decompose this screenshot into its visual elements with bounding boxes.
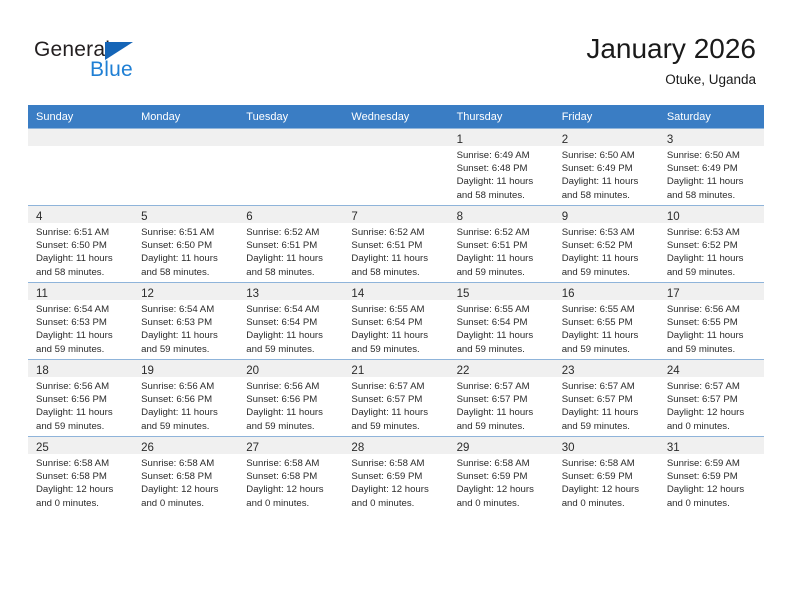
calendar-day-cell[interactable]: 29Sunrise: 6:58 AMSunset: 6:59 PMDayligh… — [449, 437, 554, 514]
weekday-header-friday: Friday — [554, 105, 659, 129]
day-detail-lines: Sunrise: 6:55 AMSunset: 6:55 PMDaylight:… — [554, 300, 659, 356]
day-detail-lines: Sunrise: 6:55 AMSunset: 6:54 PMDaylight:… — [449, 300, 554, 356]
day-number-band: 20 — [238, 360, 343, 377]
calendar-day-cell[interactable]: 24Sunrise: 6:57 AMSunset: 6:57 PMDayligh… — [659, 360, 764, 437]
sunrise-text: Sunrise: 6:51 AM — [36, 226, 127, 239]
sunrise-text: Sunrise: 6:58 AM — [141, 457, 232, 470]
page-title: January 2026 — [586, 32, 756, 66]
daylight-text-line2: and 59 minutes. — [351, 343, 442, 356]
day-number: 14 — [351, 288, 364, 300]
calendar-day-cell[interactable]: 12Sunrise: 6:54 AMSunset: 6:53 PMDayligh… — [133, 283, 238, 360]
daylight-text-line1: Daylight: 11 hours — [141, 252, 232, 265]
day-number-band: 19 — [133, 360, 238, 377]
daylight-text-line2: and 58 minutes. — [246, 266, 337, 279]
day-number-band: 15 — [449, 283, 554, 300]
day-number-band: 25 — [28, 437, 133, 454]
sunset-text: Sunset: 6:52 PM — [667, 239, 758, 252]
sunset-text: Sunset: 6:54 PM — [246, 316, 337, 329]
sunset-text: Sunset: 6:55 PM — [562, 316, 653, 329]
daylight-text-line2: and 59 minutes. — [562, 343, 653, 356]
daylight-text-line1: Daylight: 11 hours — [246, 252, 337, 265]
day-number: 10 — [667, 211, 680, 223]
sunrise-text: Sunrise: 6:51 AM — [141, 226, 232, 239]
daylight-text-line1: Daylight: 11 hours — [667, 252, 758, 265]
daylight-text-line1: Daylight: 11 hours — [562, 175, 653, 188]
day-detail-lines: Sunrise: 6:58 AMSunset: 6:59 PMDaylight:… — [343, 454, 448, 510]
sunset-text: Sunset: 6:54 PM — [351, 316, 442, 329]
sunset-text: Sunset: 6:56 PM — [141, 393, 232, 406]
calendar-day-cell[interactable]: 25Sunrise: 6:58 AMSunset: 6:58 PMDayligh… — [28, 437, 133, 514]
day-number-band: 17 — [659, 283, 764, 300]
daylight-text-line2: and 59 minutes. — [667, 266, 758, 279]
calendar-day-cell[interactable]: 22Sunrise: 6:57 AMSunset: 6:57 PMDayligh… — [449, 360, 554, 437]
sunrise-text: Sunrise: 6:56 AM — [141, 380, 232, 393]
calendar-day-cell[interactable]: 2Sunrise: 6:50 AMSunset: 6:49 PMDaylight… — [554, 129, 659, 206]
day-number: 23 — [562, 365, 575, 377]
calendar-page: General Blue January 2026 Otuke, Uganda … — [0, 0, 792, 612]
daylight-text-line1: Daylight: 11 hours — [246, 406, 337, 419]
daylight-text-line1: Daylight: 11 hours — [36, 329, 127, 342]
day-number-band: 21 — [343, 360, 448, 377]
sunrise-text: Sunrise: 6:50 AM — [562, 149, 653, 162]
day-number: 12 — [141, 288, 154, 300]
page-header: General Blue January 2026 Otuke, Uganda — [0, 0, 792, 104]
sunrise-text: Sunrise: 6:56 AM — [667, 303, 758, 316]
daylight-text-line1: Daylight: 11 hours — [457, 252, 548, 265]
day-detail-lines: Sunrise: 6:53 AMSunset: 6:52 PMDaylight:… — [554, 223, 659, 279]
day-detail-lines: Sunrise: 6:52 AMSunset: 6:51 PMDaylight:… — [343, 223, 448, 279]
sunrise-text: Sunrise: 6:54 AM — [141, 303, 232, 316]
calendar-day-cell-empty — [238, 129, 343, 206]
day-number: 18 — [36, 365, 49, 377]
sunrise-text: Sunrise: 6:57 AM — [351, 380, 442, 393]
sunrise-text: Sunrise: 6:54 AM — [36, 303, 127, 316]
day-number-band: 30 — [554, 437, 659, 454]
day-detail-lines: Sunrise: 6:50 AMSunset: 6:49 PMDaylight:… — [659, 146, 764, 202]
day-detail-lines: Sunrise: 6:57 AMSunset: 6:57 PMDaylight:… — [449, 377, 554, 433]
sunset-text: Sunset: 6:57 PM — [351, 393, 442, 406]
daylight-text-line1: Daylight: 11 hours — [141, 329, 232, 342]
weekday-header-tuesday: Tuesday — [238, 105, 343, 129]
calendar-day-cell[interactable]: 3Sunrise: 6:50 AMSunset: 6:49 PMDaylight… — [659, 129, 764, 206]
sunset-text: Sunset: 6:59 PM — [667, 470, 758, 483]
calendar-day-cell[interactable]: 6Sunrise: 6:52 AMSunset: 6:51 PMDaylight… — [238, 206, 343, 283]
weekday-header-monday: Monday — [133, 105, 238, 129]
general-blue-logo[interactable]: General Blue — [34, 38, 174, 84]
daylight-text-line1: Daylight: 12 hours — [667, 406, 758, 419]
day-number-band: 10 — [659, 206, 764, 223]
calendar-day-cell-empty — [28, 129, 133, 206]
sunrise-text: Sunrise: 6:49 AM — [457, 149, 548, 162]
calendar-day-cell[interactable]: 5Sunrise: 6:51 AMSunset: 6:50 PMDaylight… — [133, 206, 238, 283]
calendar-week-row: 4Sunrise: 6:51 AMSunset: 6:50 PMDaylight… — [28, 206, 764, 283]
daylight-text-line2: and 0 minutes. — [246, 497, 337, 510]
logo-text-blue: Blue — [90, 58, 133, 82]
day-number-band — [343, 129, 448, 146]
calendar-day-cell[interactable]: 20Sunrise: 6:56 AMSunset: 6:56 PMDayligh… — [238, 360, 343, 437]
day-detail-lines: Sunrise: 6:57 AMSunset: 6:57 PMDaylight:… — [554, 377, 659, 433]
daylight-text-line1: Daylight: 11 hours — [562, 329, 653, 342]
daylight-text-line1: Daylight: 11 hours — [457, 329, 548, 342]
title-block: January 2026 Otuke, Uganda — [586, 32, 756, 89]
daylight-text-line2: and 0 minutes. — [457, 497, 548, 510]
sunset-text: Sunset: 6:58 PM — [141, 470, 232, 483]
sunset-text: Sunset: 6:51 PM — [351, 239, 442, 252]
day-number-band: 12 — [133, 283, 238, 300]
day-number-band: 16 — [554, 283, 659, 300]
sunset-text: Sunset: 6:56 PM — [36, 393, 127, 406]
day-number-band: 8 — [449, 206, 554, 223]
calendar-header-row: Sunday Monday Tuesday Wednesday Thursday… — [28, 105, 764, 129]
day-number: 7 — [351, 211, 357, 223]
day-number-band: 11 — [28, 283, 133, 300]
calendar-day-cell[interactable]: 30Sunrise: 6:58 AMSunset: 6:59 PMDayligh… — [554, 437, 659, 514]
daylight-text-line1: Daylight: 12 hours — [141, 483, 232, 496]
day-number-band: 13 — [238, 283, 343, 300]
calendar-day-cell-empty — [133, 129, 238, 206]
day-number: 2 — [562, 134, 568, 146]
calendar-day-cell[interactable]: 4Sunrise: 6:51 AMSunset: 6:50 PMDaylight… — [28, 206, 133, 283]
daylight-text-line2: and 58 minutes. — [667, 189, 758, 202]
daylight-text-line1: Daylight: 12 hours — [562, 483, 653, 496]
sunset-text: Sunset: 6:59 PM — [562, 470, 653, 483]
day-number-band: 2 — [554, 129, 659, 146]
sunrise-text: Sunrise: 6:50 AM — [667, 149, 758, 162]
sunset-text: Sunset: 6:57 PM — [667, 393, 758, 406]
daylight-text-line2: and 0 minutes. — [351, 497, 442, 510]
day-number-band — [133, 129, 238, 146]
daylight-text-line1: Daylight: 12 hours — [457, 483, 548, 496]
day-detail-lines: Sunrise: 6:52 AMSunset: 6:51 PMDaylight:… — [238, 223, 343, 279]
calendar-week-row: 18Sunrise: 6:56 AMSunset: 6:56 PMDayligh… — [28, 360, 764, 437]
sunrise-text: Sunrise: 6:56 AM — [36, 380, 127, 393]
day-number-band: 22 — [449, 360, 554, 377]
calendar-body: 1Sunrise: 6:49 AMSunset: 6:48 PMDaylight… — [28, 129, 764, 514]
sunrise-text: Sunrise: 6:57 AM — [562, 380, 653, 393]
calendar-day-cell[interactable]: 9Sunrise: 6:53 AMSunset: 6:52 PMDaylight… — [554, 206, 659, 283]
sunset-text: Sunset: 6:52 PM — [562, 239, 653, 252]
sunset-text: Sunset: 6:51 PM — [457, 239, 548, 252]
sunset-text: Sunset: 6:57 PM — [457, 393, 548, 406]
daylight-text-line2: and 58 minutes. — [351, 266, 442, 279]
sunrise-text: Sunrise: 6:52 AM — [457, 226, 548, 239]
calendar-day-cell[interactable]: 8Sunrise: 6:52 AMSunset: 6:51 PMDaylight… — [449, 206, 554, 283]
sunrise-text: Sunrise: 6:53 AM — [667, 226, 758, 239]
daylight-text-line2: and 59 minutes. — [246, 420, 337, 433]
calendar-day-cell[interactable]: 26Sunrise: 6:58 AMSunset: 6:58 PMDayligh… — [133, 437, 238, 514]
sunset-text: Sunset: 6:53 PM — [36, 316, 127, 329]
day-detail-lines: Sunrise: 6:54 AMSunset: 6:54 PMDaylight:… — [238, 300, 343, 356]
daylight-text-line2: and 59 minutes. — [246, 343, 337, 356]
calendar-day-cell[interactable]: 17Sunrise: 6:56 AMSunset: 6:55 PMDayligh… — [659, 283, 764, 360]
daylight-text-line1: Daylight: 11 hours — [141, 406, 232, 419]
sunset-text: Sunset: 6:57 PM — [562, 393, 653, 406]
sunset-text: Sunset: 6:48 PM — [457, 162, 548, 175]
sunset-text: Sunset: 6:50 PM — [141, 239, 232, 252]
daylight-text-line1: Daylight: 11 hours — [562, 252, 653, 265]
day-detail-lines: Sunrise: 6:51 AMSunset: 6:50 PMDaylight:… — [133, 223, 238, 279]
day-number-band: 26 — [133, 437, 238, 454]
calendar-day-cell[interactable]: 13Sunrise: 6:54 AMSunset: 6:54 PMDayligh… — [238, 283, 343, 360]
sunrise-text: Sunrise: 6:58 AM — [36, 457, 127, 470]
sunset-text: Sunset: 6:51 PM — [246, 239, 337, 252]
sunset-text: Sunset: 6:59 PM — [457, 470, 548, 483]
daylight-text-line1: Daylight: 11 hours — [667, 175, 758, 188]
day-number: 21 — [351, 365, 364, 377]
daylight-text-line2: and 59 minutes. — [141, 343, 232, 356]
calendar-table: Sunday Monday Tuesday Wednesday Thursday… — [28, 105, 764, 513]
daylight-text-line2: and 0 minutes. — [667, 497, 758, 510]
sunset-text: Sunset: 6:49 PM — [667, 162, 758, 175]
day-number: 9 — [562, 211, 568, 223]
day-detail-lines: Sunrise: 6:51 AMSunset: 6:50 PMDaylight:… — [28, 223, 133, 279]
day-number-band: 24 — [659, 360, 764, 377]
daylight-text-line1: Daylight: 11 hours — [457, 175, 548, 188]
daylight-text-line1: Daylight: 12 hours — [36, 483, 127, 496]
day-number: 5 — [141, 211, 147, 223]
calendar-week-row: 1Sunrise: 6:49 AMSunset: 6:48 PMDaylight… — [28, 129, 764, 206]
calendar-day-cell[interactable]: 16Sunrise: 6:55 AMSunset: 6:55 PMDayligh… — [554, 283, 659, 360]
sunrise-text: Sunrise: 6:55 AM — [351, 303, 442, 316]
sunset-text: Sunset: 6:59 PM — [351, 470, 442, 483]
daylight-text-line2: and 0 minutes. — [36, 497, 127, 510]
calendar-day-cell[interactable]: 14Sunrise: 6:55 AMSunset: 6:54 PMDayligh… — [343, 283, 448, 360]
day-detail-lines: Sunrise: 6:52 AMSunset: 6:51 PMDaylight:… — [449, 223, 554, 279]
day-number: 27 — [246, 442, 259, 454]
daylight-text-line2: and 0 minutes. — [141, 497, 232, 510]
calendar-week-row: 11Sunrise: 6:54 AMSunset: 6:53 PMDayligh… — [28, 283, 764, 360]
daylight-text-line2: and 58 minutes. — [141, 266, 232, 279]
sunrise-text: Sunrise: 6:52 AM — [246, 226, 337, 239]
calendar-day-cell[interactable]: 1Sunrise: 6:49 AMSunset: 6:48 PMDaylight… — [449, 129, 554, 206]
day-number-band — [238, 129, 343, 146]
sunset-text: Sunset: 6:58 PM — [36, 470, 127, 483]
day-number: 20 — [246, 365, 259, 377]
day-number: 3 — [667, 134, 673, 146]
daylight-text-line2: and 59 minutes. — [562, 266, 653, 279]
day-number: 13 — [246, 288, 259, 300]
day-number-band: 5 — [133, 206, 238, 223]
day-detail-lines: Sunrise: 6:59 AMSunset: 6:59 PMDaylight:… — [659, 454, 764, 510]
daylight-text-line1: Daylight: 11 hours — [457, 406, 548, 419]
weekday-header-sunday: Sunday — [28, 105, 133, 129]
sunrise-text: Sunrise: 6:55 AM — [457, 303, 548, 316]
daylight-text-line2: and 59 minutes. — [36, 343, 127, 356]
day-number: 11 — [36, 288, 48, 300]
day-number: 1 — [457, 134, 463, 146]
daylight-text-line1: Daylight: 11 hours — [562, 406, 653, 419]
daylight-text-line2: and 59 minutes. — [457, 266, 548, 279]
calendar-day-cell[interactable]: 27Sunrise: 6:58 AMSunset: 6:58 PMDayligh… — [238, 437, 343, 514]
daylight-text-line2: and 59 minutes. — [351, 420, 442, 433]
calendar-day-cell[interactable]: 11Sunrise: 6:54 AMSunset: 6:53 PMDayligh… — [28, 283, 133, 360]
day-detail-lines: Sunrise: 6:56 AMSunset: 6:56 PMDaylight:… — [28, 377, 133, 433]
calendar-day-cell[interactable]: 21Sunrise: 6:57 AMSunset: 6:57 PMDayligh… — [343, 360, 448, 437]
weekday-header-thursday: Thursday — [449, 105, 554, 129]
daylight-text-line1: Daylight: 12 hours — [351, 483, 442, 496]
day-number-band: 4 — [28, 206, 133, 223]
sunset-text: Sunset: 6:49 PM — [562, 162, 653, 175]
day-detail-lines: Sunrise: 6:53 AMSunset: 6:52 PMDaylight:… — [659, 223, 764, 279]
daylight-text-line1: Daylight: 11 hours — [246, 329, 337, 342]
day-number-band: 23 — [554, 360, 659, 377]
day-number-band: 28 — [343, 437, 448, 454]
day-number: 28 — [351, 442, 364, 454]
calendar-day-cell-empty — [343, 129, 448, 206]
sunset-text: Sunset: 6:56 PM — [246, 393, 337, 406]
day-number: 26 — [141, 442, 154, 454]
calendar-day-cell[interactable]: 18Sunrise: 6:56 AMSunset: 6:56 PMDayligh… — [28, 360, 133, 437]
daylight-text-line2: and 59 minutes. — [457, 420, 548, 433]
weekday-header-saturday: Saturday — [659, 105, 764, 129]
day-number-band: 9 — [554, 206, 659, 223]
sunset-text: Sunset: 6:54 PM — [457, 316, 548, 329]
day-detail-lines: Sunrise: 6:55 AMSunset: 6:54 PMDaylight:… — [343, 300, 448, 356]
daylight-text-line1: Daylight: 11 hours — [667, 329, 758, 342]
daylight-text-line2: and 59 minutes. — [36, 420, 127, 433]
calendar-day-cell[interactable]: 31Sunrise: 6:59 AMSunset: 6:59 PMDayligh… — [659, 437, 764, 514]
day-number: 19 — [141, 365, 154, 377]
day-number: 4 — [36, 211, 42, 223]
sunrise-text: Sunrise: 6:52 AM — [351, 226, 442, 239]
calendar-week-row: 25Sunrise: 6:58 AMSunset: 6:58 PMDayligh… — [28, 437, 764, 514]
sunset-text: Sunset: 6:55 PM — [667, 316, 758, 329]
day-detail-lines: Sunrise: 6:58 AMSunset: 6:59 PMDaylight:… — [554, 454, 659, 510]
sunrise-text: Sunrise: 6:59 AM — [667, 457, 758, 470]
day-number-band: 27 — [238, 437, 343, 454]
day-number: 17 — [667, 288, 680, 300]
sunrise-text: Sunrise: 6:57 AM — [667, 380, 758, 393]
sunset-text: Sunset: 6:53 PM — [141, 316, 232, 329]
sunset-text: Sunset: 6:50 PM — [36, 239, 127, 252]
day-number-band: 31 — [659, 437, 764, 454]
day-number-band: 1 — [449, 129, 554, 146]
day-detail-lines: Sunrise: 6:49 AMSunset: 6:48 PMDaylight:… — [449, 146, 554, 202]
day-detail-lines: Sunrise: 6:57 AMSunset: 6:57 PMDaylight:… — [659, 377, 764, 433]
day-detail-lines: Sunrise: 6:57 AMSunset: 6:57 PMDaylight:… — [343, 377, 448, 433]
day-number: 25 — [36, 442, 49, 454]
day-number: 8 — [457, 211, 463, 223]
sunrise-text: Sunrise: 6:58 AM — [351, 457, 442, 470]
day-number-band: 3 — [659, 129, 764, 146]
day-detail-lines: Sunrise: 6:58 AMSunset: 6:58 PMDaylight:… — [133, 454, 238, 510]
day-number-band: 7 — [343, 206, 448, 223]
daylight-text-line1: Daylight: 11 hours — [351, 406, 442, 419]
daylight-text-line2: and 59 minutes. — [562, 420, 653, 433]
daylight-text-line2: and 0 minutes. — [667, 420, 758, 433]
day-detail-lines: Sunrise: 6:54 AMSunset: 6:53 PMDaylight:… — [133, 300, 238, 356]
day-detail-lines: Sunrise: 6:56 AMSunset: 6:56 PMDaylight:… — [238, 377, 343, 433]
sunrise-text: Sunrise: 6:58 AM — [562, 457, 653, 470]
daylight-text-line1: Daylight: 12 hours — [246, 483, 337, 496]
calendar-day-cell[interactable]: 28Sunrise: 6:58 AMSunset: 6:59 PMDayligh… — [343, 437, 448, 514]
day-detail-lines: Sunrise: 6:56 AMSunset: 6:55 PMDaylight:… — [659, 300, 764, 356]
day-detail-lines: Sunrise: 6:54 AMSunset: 6:53 PMDaylight:… — [28, 300, 133, 356]
calendar-day-cell[interactable]: 10Sunrise: 6:53 AMSunset: 6:52 PMDayligh… — [659, 206, 764, 283]
day-number: 24 — [667, 365, 680, 377]
day-number-band — [28, 129, 133, 146]
day-detail-lines: Sunrise: 6:58 AMSunset: 6:58 PMDaylight:… — [28, 454, 133, 510]
sunrise-text: Sunrise: 6:58 AM — [246, 457, 337, 470]
day-number-band: 14 — [343, 283, 448, 300]
daylight-text-line2: and 59 minutes. — [457, 343, 548, 356]
day-number: 29 — [457, 442, 470, 454]
daylight-text-line2: and 58 minutes. — [562, 189, 653, 202]
calendar-day-cell[interactable]: 19Sunrise: 6:56 AMSunset: 6:56 PMDayligh… — [133, 360, 238, 437]
calendar-day-cell[interactable]: 15Sunrise: 6:55 AMSunset: 6:54 PMDayligh… — [449, 283, 554, 360]
daylight-text-line2: and 59 minutes. — [667, 343, 758, 356]
weekday-header-wednesday: Wednesday — [343, 105, 448, 129]
location-subtitle: Otuke, Uganda — [586, 71, 756, 89]
day-number-band: 6 — [238, 206, 343, 223]
sunrise-text: Sunrise: 6:57 AM — [457, 380, 548, 393]
day-number: 16 — [562, 288, 575, 300]
sunrise-text: Sunrise: 6:53 AM — [562, 226, 653, 239]
daylight-text-line1: Daylight: 11 hours — [36, 252, 127, 265]
footer-space — [0, 592, 792, 612]
sunrise-text: Sunrise: 6:54 AM — [246, 303, 337, 316]
daylight-text-line2: and 0 minutes. — [562, 497, 653, 510]
day-number-band: 18 — [28, 360, 133, 377]
sunrise-text: Sunrise: 6:56 AM — [246, 380, 337, 393]
day-number: 6 — [246, 211, 252, 223]
daylight-text-line1: Daylight: 11 hours — [351, 329, 442, 342]
calendar-day-cell[interactable]: 23Sunrise: 6:57 AMSunset: 6:57 PMDayligh… — [554, 360, 659, 437]
sunrise-text: Sunrise: 6:55 AM — [562, 303, 653, 316]
day-detail-lines: Sunrise: 6:58 AMSunset: 6:59 PMDaylight:… — [449, 454, 554, 510]
calendar-day-cell[interactable]: 7Sunrise: 6:52 AMSunset: 6:51 PMDaylight… — [343, 206, 448, 283]
day-number: 15 — [457, 288, 470, 300]
day-number-band: 29 — [449, 437, 554, 454]
daylight-text-line2: and 58 minutes. — [36, 266, 127, 279]
sunrise-text: Sunrise: 6:58 AM — [457, 457, 548, 470]
sunset-text: Sunset: 6:58 PM — [246, 470, 337, 483]
daylight-text-line1: Daylight: 11 hours — [351, 252, 442, 265]
daylight-text-line2: and 58 minutes. — [457, 189, 548, 202]
day-number: 22 — [457, 365, 470, 377]
daylight-text-line1: Daylight: 11 hours — [36, 406, 127, 419]
day-number: 30 — [562, 442, 575, 454]
day-detail-lines: Sunrise: 6:58 AMSunset: 6:58 PMDaylight:… — [238, 454, 343, 510]
daylight-text-line2: and 59 minutes. — [141, 420, 232, 433]
day-detail-lines: Sunrise: 6:56 AMSunset: 6:56 PMDaylight:… — [133, 377, 238, 433]
daylight-text-line1: Daylight: 12 hours — [667, 483, 758, 496]
day-detail-lines: Sunrise: 6:50 AMSunset: 6:49 PMDaylight:… — [554, 146, 659, 202]
day-number: 31 — [667, 442, 680, 454]
